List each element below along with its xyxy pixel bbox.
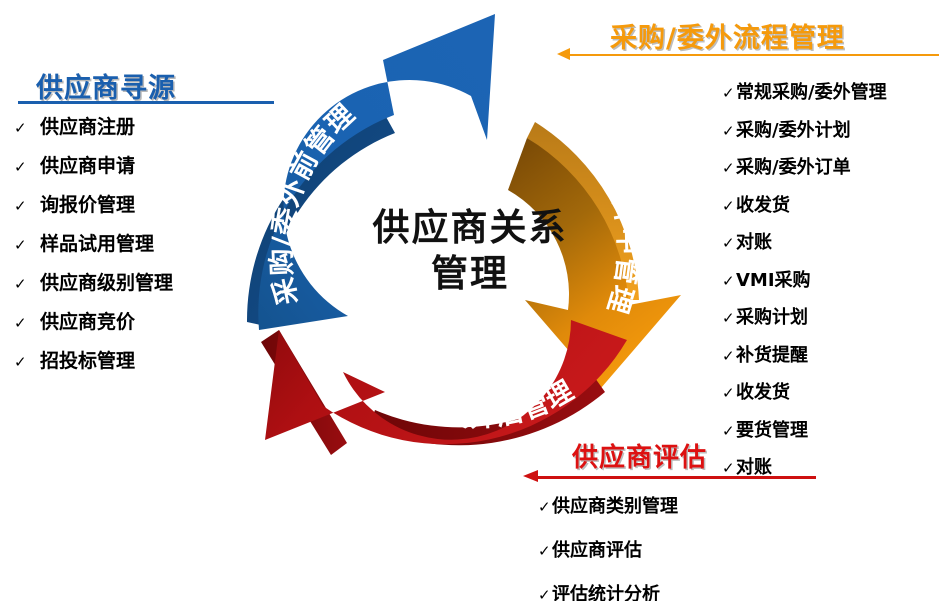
check-icon: ✓	[722, 124, 736, 139]
check-icon: ✓	[722, 236, 736, 251]
list-item-label: 样品试用管理	[40, 229, 154, 256]
list-item-label: 采购计划	[736, 303, 808, 329]
section-title-evaluation: 供应商评估	[572, 437, 707, 474]
check-icon: ✓	[14, 238, 40, 253]
list-item: ✓ 要货管理	[722, 416, 887, 442]
check-icon: ✓	[722, 161, 736, 176]
section-title-sourcing: 供应商寻源	[36, 66, 176, 105]
list-item-label: 供应商评估	[552, 536, 642, 562]
list-item: ✓ 收发货	[722, 378, 887, 404]
sourcing-underline	[18, 101, 274, 104]
list-item: ✓ 采购/委外订单	[722, 153, 887, 179]
list-item-label: 收发货	[736, 378, 790, 404]
list-item-label: 供应商类别管理	[552, 492, 678, 518]
check-icon: ✓	[722, 461, 736, 476]
list-item-label: 补货提醒	[736, 341, 808, 367]
check-icon: ✓	[722, 274, 736, 289]
list-item-label: 收发货	[736, 191, 790, 217]
list-item-label: 招投标管理	[40, 346, 135, 373]
arrow-shaft	[566, 54, 939, 56]
list-item-label: 供应商注册	[40, 112, 135, 139]
check-icon: ✓	[14, 355, 40, 370]
list-item: ✓ 供应商类别管理	[538, 492, 678, 518]
list-item-label: 采购/委外订单	[736, 153, 851, 179]
process-item-list: ✓ 常规采购/委外管理 ✓ 采购/委外计划 ✓ 采购/委外订单 ✓ 收发货 ✓ …	[722, 78, 887, 491]
list-item: ✓ 供应商注册	[14, 112, 173, 139]
list-item: ✓ 补货提醒	[722, 341, 887, 367]
list-item: ✓ 收发货	[722, 191, 887, 217]
list-item-label: 供应商竞价	[40, 307, 135, 334]
list-item: ✓ 采购/委外计划	[722, 116, 887, 142]
check-icon: ✓	[722, 199, 736, 214]
check-icon: ✓	[722, 386, 736, 401]
check-icon: ✓	[722, 86, 736, 101]
diagram-canvas: 采购/委外前管理 采购/委外中管理 采购/委外后管理	[0, 0, 939, 601]
check-icon: ✓	[538, 588, 552, 601]
list-item-label: 采购/委外计划	[736, 116, 851, 142]
list-item: ✓ 样品试用管理	[14, 229, 173, 256]
list-item: ✓ 供应商申请	[14, 151, 173, 178]
list-item: ✓ 评估统计分析	[538, 580, 678, 601]
check-icon: ✓	[14, 121, 40, 136]
sourcing-item-list: ✓ 供应商注册 ✓ 供应商申请 ✓ 询报价管理 ✓ 样品试用管理 ✓ 供应商级别…	[14, 112, 173, 385]
list-item: ✓ 供应商竞价	[14, 307, 173, 334]
check-icon: ✓	[538, 544, 552, 559]
list-item: ✓ 供应商评估	[538, 536, 678, 562]
check-icon: ✓	[722, 424, 736, 439]
list-item: ✓ 常规采购/委外管理	[722, 78, 887, 104]
check-icon: ✓	[538, 500, 552, 515]
list-item: ✓ 询报价管理	[14, 190, 173, 217]
section-title-process: 采购/委外流程管理	[610, 16, 845, 55]
center-label: 供应商关系 管理	[345, 205, 595, 298]
list-item-label: 供应商级别管理	[40, 268, 173, 295]
check-icon: ✓	[722, 349, 736, 364]
arrow-shaft	[532, 476, 816, 479]
list-item-label: 供应商申请	[40, 151, 135, 178]
list-item-label: 对账	[736, 228, 772, 254]
check-icon: ✓	[14, 277, 40, 292]
check-icon: ✓	[14, 316, 40, 331]
evaluation-item-list: ✓ 供应商类别管理 ✓ 供应商评估 ✓ 评估统计分析	[538, 492, 678, 601]
list-item-label: 要货管理	[736, 416, 808, 442]
list-item: ✓ 招投标管理	[14, 346, 173, 373]
list-item-label: 询报价管理	[40, 190, 135, 217]
check-icon: ✓	[14, 160, 40, 175]
list-item-label: 常规采购/委外管理	[736, 78, 887, 104]
list-item: ✓ VMI采购	[722, 266, 887, 292]
list-item-label: VMI采购	[736, 266, 811, 292]
list-item-label: 评估统计分析	[552, 580, 660, 601]
check-icon: ✓	[722, 311, 736, 326]
check-icon: ✓	[14, 199, 40, 214]
center-label-line1: 供应商关系	[345, 205, 595, 251]
list-item: ✓ 对账	[722, 228, 887, 254]
center-label-line2: 管理	[345, 251, 595, 297]
list-item: ✓ 供应商级别管理	[14, 268, 173, 295]
list-item: ✓ 采购计划	[722, 303, 887, 329]
